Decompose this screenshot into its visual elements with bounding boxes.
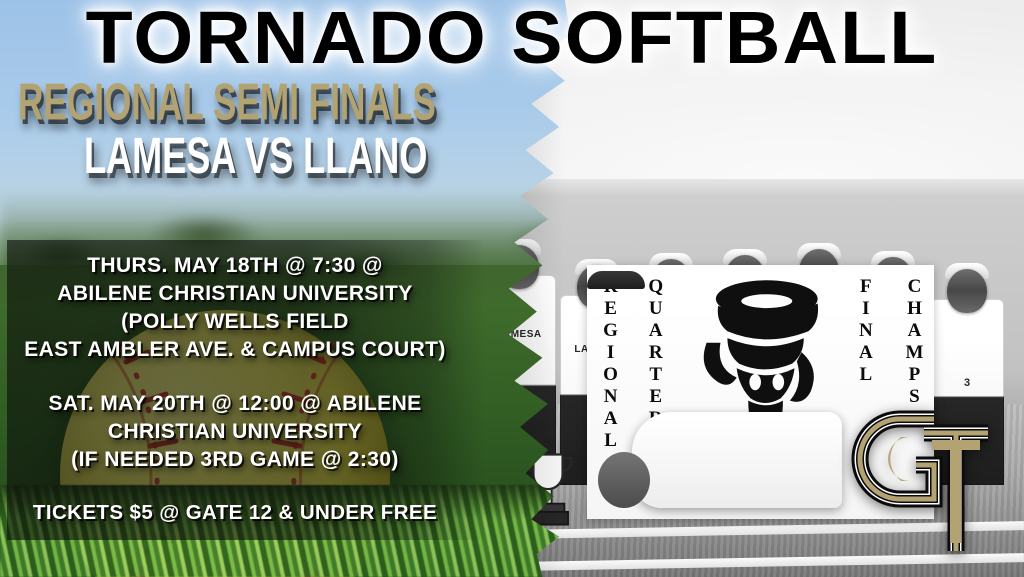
- game1-details: THURS. MAY 18TH @ 7:30 @ ABILENE CHRISTI…: [0, 252, 470, 364]
- subtitle-round: REGIONAL SEMI FINALS: [18, 77, 436, 129]
- player-head: [598, 452, 650, 508]
- banner-word: REGIONAL: [601, 276, 620, 452]
- player-with-trophy: [632, 412, 842, 508]
- page-title: TORNADO SOFTBALL: [0, 0, 1024, 75]
- subtitle-block: REGIONAL SEMI FINALS LAMESA VS LLANO: [0, 81, 1024, 179]
- game1-line-2: ABILENE CHRISTIAN UNIVERSITY: [0, 280, 470, 308]
- banner-word: QUARTER: [646, 276, 665, 430]
- game1-line-1: THURS. MAY 18TH @ 7:30 @: [0, 252, 470, 280]
- game2-line-2: CHRISTIAN UNIVERSITY: [0, 418, 470, 446]
- event-details: THURS. MAY 18TH @ 7:30 @ ABILENE CHRISTI…: [0, 252, 470, 527]
- game2-line-3: (IF NEEDED 3RD GAME @ 2:30): [0, 446, 470, 474]
- headline-block: TORNADO SOFTBALL REGIONAL SEMI FINALS LA…: [0, 0, 1024, 179]
- game2-line-1: SAT. MAY 20TH @ 12:00 @ ABILENE: [0, 390, 470, 418]
- game1-line-4: EAST AMBLER AVE. & CAMPUS COURT): [0, 336, 470, 364]
- player-head: [947, 269, 987, 313]
- banner-word: CHAMPS: [905, 276, 924, 408]
- banner-word: FINAL: [856, 276, 875, 386]
- game2-details: SAT. MAY 20TH @ 12:00 @ ABILENE CHRISTIA…: [0, 390, 470, 474]
- player-cap: [587, 271, 645, 289]
- jersey-number: 3: [930, 377, 1004, 389]
- game1-line-3: (POLLY WELLS FIELD: [0, 308, 470, 336]
- poster: LAMESA 17 LAMESA LAMESA: [0, 0, 1024, 577]
- subtitle-matchup: LAMESA VS LLANO: [84, 131, 855, 182]
- gt-interlocking-logo: [838, 391, 1010, 571]
- ticket-info: TICKETS $5 @ GATE 12 & UNDER FREE: [0, 499, 470, 526]
